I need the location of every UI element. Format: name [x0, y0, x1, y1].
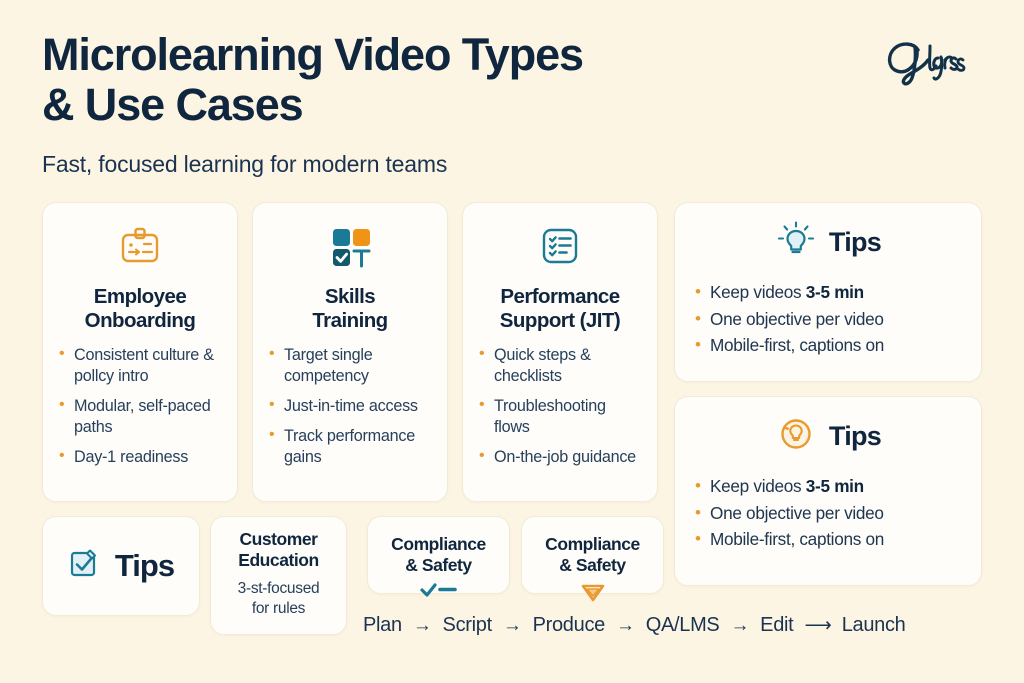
- tips-label: Tips: [829, 227, 881, 258]
- check-dash-icon: [367, 582, 510, 598]
- list-item: Track performance gains: [267, 426, 433, 468]
- lightbulb-circle-icon: [775, 413, 817, 460]
- list-item: Troubleshooting flows: [477, 396, 643, 438]
- brand-logo: [884, 36, 984, 88]
- flow-step-produce[interactable]: Produce: [533, 614, 605, 637]
- skills-grid-icon: [267, 221, 433, 273]
- card-subtitle: 3-st-focused for rules: [219, 579, 338, 617]
- shield-icon: [521, 582, 664, 604]
- arrow-right-icon: →: [616, 615, 635, 637]
- type-card-employee-onboarding[interactable]: Employee Onboarding Consistent culture &…: [42, 202, 238, 502]
- list-item: Quick steps & checklists: [477, 345, 643, 387]
- arrow-right-icon: →: [730, 615, 749, 637]
- card-bullets: Consistent culture & pollcy intro Modula…: [57, 345, 223, 467]
- header: Microlearning Video Types & Use Cases Fa…: [42, 30, 982, 178]
- process-flow: Plan → Script → Produce → QA/LMS → Edit …: [363, 614, 906, 637]
- customer-education-card[interactable]: Customer Education 3-st-focused for rule…: [210, 516, 347, 635]
- lightbulb-rays-icon: [775, 219, 817, 266]
- list-item: Consistent culture & pollcy intro: [57, 345, 223, 387]
- tips-panel-primary[interactable]: Tips Keep videos 3-5 min One objective p…: [674, 202, 982, 382]
- card-bullets: Quick steps & checklists Troubleshooting…: [477, 345, 643, 467]
- flow-step-launch[interactable]: Launch: [842, 614, 906, 637]
- tips-list: Keep videos 3-5 min One objective per vi…: [693, 279, 963, 359]
- card-title: Skills Training: [267, 285, 433, 333]
- type-card-performance-support[interactable]: Performance Support (JIT) Quick steps & …: [462, 202, 658, 502]
- card-title: Compliance & Safety: [391, 534, 486, 576]
- flow-step-qa-lms[interactable]: QA/LMS: [646, 614, 720, 637]
- list-item: Just-in-time access: [267, 396, 433, 417]
- tips-label: Tips: [829, 421, 881, 452]
- list-item: Target single competency: [267, 345, 433, 387]
- tips-badge-small[interactable]: Tips: [42, 516, 200, 616]
- checklist-icon: [477, 221, 643, 273]
- arrow-right-icon: →: [503, 615, 522, 637]
- tips-label: Tips: [115, 548, 174, 584]
- list-item: One objective per video: [693, 500, 963, 527]
- tips-list: Keep videos 3-5 min One objective per vi…: [693, 473, 963, 553]
- page-title: Microlearning Video Types & Use Cases: [42, 30, 982, 131]
- card-title: Employee Onboarding: [57, 285, 223, 333]
- card-title: Performance Support (JIT): [477, 285, 643, 333]
- card-title: Compliance & Safety: [545, 534, 640, 576]
- flow-step-script[interactable]: Script: [443, 614, 492, 637]
- card-bullets: Target single competency Just-in-time ac…: [267, 345, 433, 467]
- arrow-right-icon: →: [413, 615, 432, 637]
- list-item: Day-1 readiness: [57, 447, 223, 468]
- page-subtitle: Fast, focused learning for modern teams: [42, 151, 982, 178]
- list-item: Keep videos 3-5 min: [693, 279, 963, 306]
- tips-header: Tips: [693, 219, 963, 266]
- infographic-page: Microlearning Video Types & Use Cases Fa…: [0, 0, 1024, 683]
- type-card-skills-training[interactable]: Skills Training Target single competency…: [252, 202, 448, 502]
- list-item: One objective per video: [693, 306, 963, 333]
- tips-header: Tips: [693, 413, 963, 460]
- id-badge-icon: [57, 221, 223, 273]
- flow-step-edit[interactable]: Edit: [760, 614, 793, 637]
- card-title: Customer Education: [219, 529, 338, 570]
- flow-step-plan[interactable]: Plan: [363, 614, 402, 637]
- checkbox-pencil-icon: [68, 546, 104, 587]
- tips-panel-secondary[interactable]: Tips Keep videos 3-5 min One objective p…: [674, 396, 982, 586]
- list-item: On-the-job guidance: [477, 447, 643, 468]
- list-item: Keep videos 3-5 min: [693, 473, 963, 500]
- arrow-right-long-icon: ⟶: [804, 614, 830, 637]
- list-item: Modular, self-paced paths: [57, 396, 223, 438]
- list-item: Mobile-first, captions on: [693, 332, 963, 359]
- list-item: Mobile-first, captions on: [693, 526, 963, 553]
